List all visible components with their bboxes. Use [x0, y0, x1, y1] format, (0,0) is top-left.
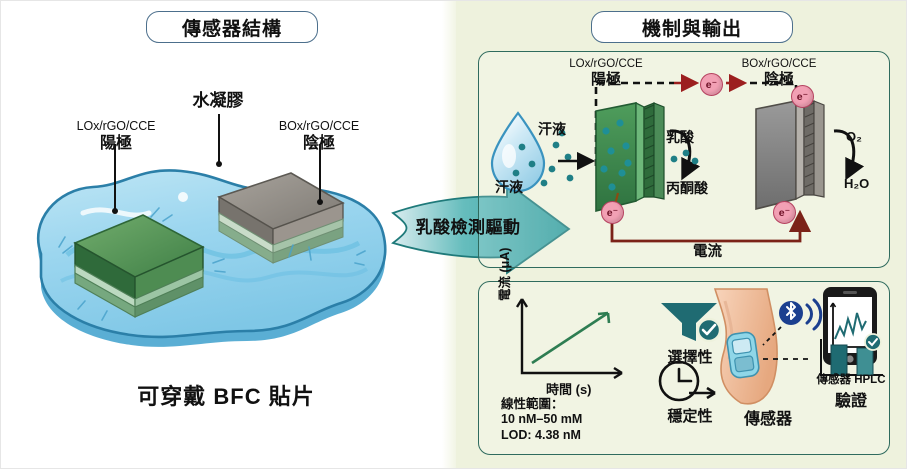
- left-panel-caption: 可穿戴 BFC 貼片: [61, 379, 391, 411]
- electron-badge-anode-out: e⁻: [601, 201, 624, 224]
- lod-value: LOD: 4.38 nM: [501, 428, 661, 443]
- sensor-patch: [726, 331, 760, 378]
- leader-anode-left: [114, 144, 116, 211]
- validation-label: 驗證: [801, 387, 901, 411]
- output-range-block: 線性範圍： 10 nM–50 mM LOD: 4.38 nM: [501, 397, 661, 443]
- leader-cathode-left: [319, 144, 321, 202]
- left-panel: 傳感器結構: [1, 1, 456, 469]
- hydrogel-patch-illustration: [23, 159, 405, 349]
- arrow-label: 乳酸檢測驅動: [393, 213, 543, 238]
- label-water: H₂O: [844, 176, 869, 191]
- leader-hydrogel: [218, 114, 220, 164]
- label-cathode-left-en: BOx/rGO/CCE: [259, 119, 379, 134]
- output-x-axis-label: 時間 (s): [546, 379, 592, 398]
- electron-badge-return: e⁻: [773, 201, 796, 224]
- electron-badge-top: e⁻: [700, 73, 723, 96]
- linear-range-label: 線性範圍：: [501, 397, 661, 412]
- label-sweat-top: 汗液: [538, 119, 566, 139]
- label-pyruvate: 丙酮酸: [666, 178, 708, 198]
- label-oxygen: O₂: [846, 129, 862, 144]
- cathode-block: [756, 101, 824, 209]
- linear-range-value: 10 nM–50 mM: [501, 412, 661, 427]
- anode-block: [596, 103, 664, 211]
- label-hydrogel: 水凝膠: [168, 91, 268, 111]
- left-panel-title: 傳感器結構: [146, 11, 318, 43]
- figure-root: 傳感器結構: [0, 0, 907, 469]
- electron-badge-cathode-in: e⁻: [791, 85, 814, 108]
- output-y-axis-label: 電流 (μA): [494, 248, 513, 301]
- performance-line-chart: [496, 293, 656, 388]
- validation-bar-labels: 傳感器 HPLC: [801, 371, 901, 387]
- right-panel-title: 機制與輸出: [591, 11, 793, 43]
- bluetooth-icon: [779, 300, 821, 329]
- label-anode-left: LOx/rGO/CCE 陽極: [56, 119, 176, 153]
- label-lactate: 乳酸: [666, 127, 694, 147]
- label-anode-left-zh: 陽極: [56, 134, 176, 153]
- label-current: 電流: [693, 240, 722, 261]
- label-sweat-bottom: 汗液: [495, 177, 523, 197]
- label-anode-left-en: LOx/rGO/CCE: [56, 119, 176, 134]
